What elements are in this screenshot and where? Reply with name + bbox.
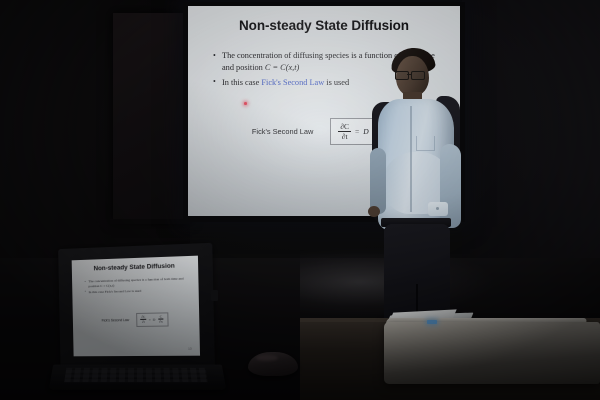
- laptop-eq-lhs: ∂C ∂t: [140, 315, 147, 324]
- projector-power-led: [427, 320, 437, 324]
- slide-title: Non-steady State Diffusion: [201, 18, 447, 33]
- equation-lhs-fraction: ∂C ∂t: [338, 123, 351, 141]
- equation-equals-sign: =: [355, 127, 359, 136]
- blackboard-ledge: [110, 219, 192, 224]
- presenter-shirt-pocket: [416, 136, 435, 151]
- glasses-right-lens: [411, 71, 425, 80]
- laptop-eq-coefficient: D: [153, 318, 156, 322]
- laptop-bullet-list: The concentration of diffusing species i…: [85, 276, 192, 295]
- laptop-eq-rhs: C ∂x: [157, 315, 165, 324]
- equation-lhs-numerator: ∂C: [338, 123, 351, 133]
- laptop-equation-row: Fick's Second Law ∂C ∂t = D C ∂x: [73, 312, 200, 328]
- projector[interactable]: [384, 322, 600, 384]
- laptop[interactable]: Non-steady State Diffusion The concentra…: [57, 246, 225, 394]
- laptop-lid: Non-steady State Diffusion The concentra…: [58, 243, 215, 368]
- laptop-screen[interactable]: Non-steady State Diffusion The concentra…: [72, 256, 200, 357]
- laptop-equation-label: Fick's Second Law: [102, 318, 130, 322]
- presenter-left-arm: [370, 148, 386, 214]
- laptop-mirrored-slide: Non-steady State Diffusion The concentra…: [72, 256, 200, 357]
- presenter-cuff-button: [436, 207, 439, 210]
- laptop-base[interactable]: [49, 365, 227, 390]
- laser-pointer-dot: [244, 102, 247, 105]
- computer-mouse-highlight: [256, 355, 278, 361]
- presenter-left-hand: [368, 206, 380, 217]
- laptop-eq-lhs-den: ∂t: [140, 320, 147, 324]
- bullet-2-highlight: Fick's Second Law: [261, 78, 324, 87]
- laptop-slide-page-number: 13: [188, 347, 192, 351]
- laptop-eq-equals: =: [149, 318, 151, 322]
- laptop-slide-title: Non-steady State Diffusion: [78, 262, 190, 273]
- bullet-2-suffix: is used: [324, 78, 349, 87]
- equation-coefficient: D: [363, 127, 368, 136]
- blackboard: [113, 13, 190, 221]
- equation-lhs-denominator: ∂t: [340, 132, 350, 141]
- presentation-scene: Non-steady State Diffusion The concentra…: [0, 0, 600, 400]
- presenter-shirt-placket: [410, 106, 412, 212]
- bullet-1-math: C = C(x,t): [265, 63, 299, 72]
- laptop-eq-rhs-den: ∂x: [157, 320, 165, 324]
- bullet-2-prefix: In this case: [222, 78, 261, 87]
- laptop-keyboard[interactable]: [64, 368, 208, 382]
- glasses-icon: [395, 71, 427, 78]
- glasses-left-lens: [395, 71, 409, 80]
- equation-label: Fick's Second Law: [252, 127, 313, 136]
- laptop-equation-box: ∂C ∂t = D C ∂x: [136, 312, 169, 326]
- laptop-hinge-nub: [211, 290, 218, 301]
